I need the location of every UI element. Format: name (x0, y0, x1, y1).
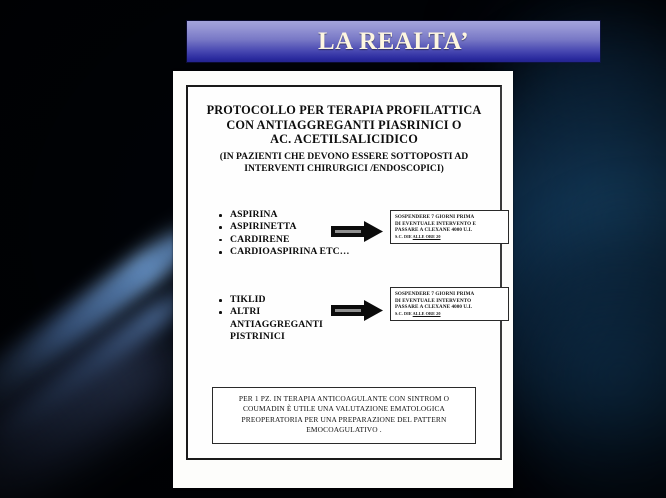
antiplatelet-group-one: ASPIRINA ASPIRINETTA CARDIRENE CARDIOASP… (200, 209, 488, 275)
instruction-box-two: SOSPENDERE 7 GIORNI PRIMA DI EVENTUALE I… (390, 287, 509, 321)
right-arrow-icon (331, 300, 383, 321)
instruction-line: PASSARE A CLEXANE 4000 U.I. (395, 304, 504, 311)
footer-line: EMOCOAGULATIVO . (219, 425, 469, 436)
dosing-time-underlined: ALLE ORE 20 (413, 234, 441, 239)
heading-line-1: PROTOCOLLO PER TERAPIA PROFILATTICA (200, 103, 488, 118)
instruction-line-dosing: S.C. DIE ALLE ORE 20 (395, 234, 504, 241)
list-item: CARDIOASPIRINA ETC… (216, 246, 376, 258)
instruction-line: SOSPENDERE 7 GIORNI PRIMA (395, 291, 504, 298)
document-border-frame: PROTOCOLLO PER TERAPIA PROFILATTICA CON … (186, 85, 502, 460)
heading-line-2: CON ANTIAGGREGANTI PIASRINICI O (200, 118, 488, 133)
right-arrow-icon (331, 221, 383, 242)
instruction-line: SOSPENDERE 7 GIORNI PRIMA (395, 214, 504, 221)
slide-title-banner: LA REALTA’ (187, 21, 600, 62)
document-content: PROTOCOLLO PER TERAPIA PROFILATTICA CON … (188, 87, 500, 458)
heading-subline-1: (IN PAZIENTI CHE DEVONO ESSERE SOTTOPOST… (200, 151, 488, 164)
dosing-prefix: S.C. DIE (395, 311, 412, 316)
instruction-line: DI EVENTUALE INTERVENTO E (395, 221, 504, 228)
footer-line: COUMADIN È UTILE UNA VALUTAZIONE EMATOLO… (219, 404, 469, 415)
instruction-box-one: SOSPENDERE 7 GIORNI PRIMA DI EVENTUALE I… (390, 210, 509, 244)
list-item: ASPIRINA (216, 209, 376, 221)
heading-subline-2: INTERVENTI CHIRURGICI /ENDOSCOPICI) (200, 163, 488, 176)
antiplatelet-group-two: TIKLID ALTRI ANTIAGGREGANTI PISTRINICI S… (200, 294, 488, 360)
dosing-time-underlined: ALLE ORE 20 (413, 311, 441, 316)
instruction-line: PASSARE A CLEXANE 4000 U.I. (395, 227, 504, 234)
footer-line: PER 1 PZ. IN TERAPIA ANTICOAGULANTE CON … (219, 394, 469, 405)
scanned-document-page: PROTOCOLLO PER TERAPIA PROFILATTICA CON … (173, 71, 513, 488)
heading-line-3: AC. ACETILSALICIDICO (200, 132, 488, 147)
document-heading: PROTOCOLLO PER TERAPIA PROFILATTICA CON … (200, 103, 488, 176)
slide-title-text: LA REALTA’ (318, 28, 469, 56)
instruction-line: DI EVENTUALE INTERVENTO (395, 298, 504, 305)
footer-line: PREOPERATORIA PER UNA PREPARAZIONE DEL P… (219, 415, 469, 426)
instruction-line-dosing: S.C. DIE ALLE ORE 20 (395, 311, 504, 318)
list-item-continuation: PISTRINICI (216, 331, 376, 343)
anticoagulant-note-box: PER 1 PZ. IN TERAPIA ANTICOAGULANTE CON … (212, 387, 476, 444)
dosing-prefix: S.C. DIE (395, 234, 412, 239)
